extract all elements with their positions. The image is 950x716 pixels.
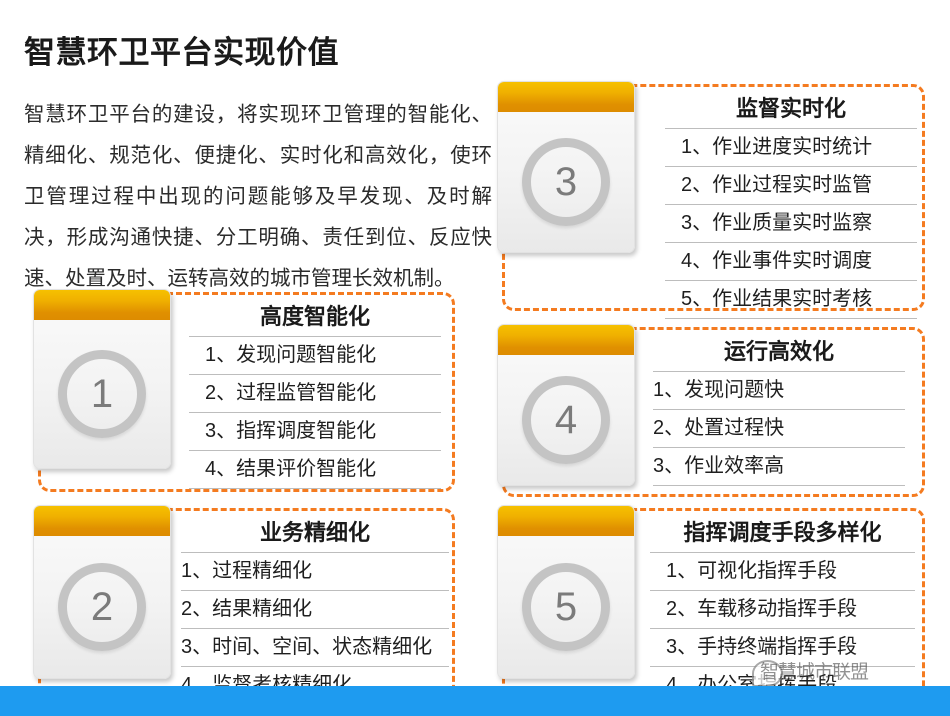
list-item: 2、处置过程快 [653,410,905,448]
ring-icon: 2 [58,563,146,651]
tile-gold-header [34,290,170,320]
tile-body: 1 [34,320,170,468]
list-item: 1、发现问题快 [653,372,905,410]
number-tile-2: 2 [33,505,171,679]
watermark-text: 智慧城市联盟 [760,657,868,684]
number-tile-1: 1 [33,289,171,469]
list-item: 4、作业事件实时调度 [665,243,917,281]
tile-gold-header [34,506,170,536]
list-item: 3、指挥调度智能化 [189,413,441,451]
card-content: 业务精细化 1、过程精细化 2、结果精细化 3、时间、空间、状态精细化 4、监督… [181,513,449,705]
card-inner: 2 业务精细化 1、过程精细化 2、结果精细化 3、时间、空间、状态精细化 4、… [41,511,452,695]
number-tile-5: 5 [497,505,635,679]
value-card-1[interactable]: 1 高度智能化 1、发现问题智能化 2、过程监管智能化 3、指挥调度智能化 4、… [38,292,455,492]
number-tile-3: 3 [497,81,635,253]
card-number: 5 [555,587,577,627]
tile-body: 2 [34,536,170,678]
card-inner: 1 高度智能化 1、发现问题智能化 2、过程监管智能化 3、指挥调度智能化 4、… [41,295,452,489]
slide-page: 智慧环卫平台实现价值 智慧环卫平台的建设，将实现环卫管理的智能化、精细化、规范化… [0,0,950,716]
tile-body: 5 [498,536,634,678]
list-item: 2、作业过程实时监管 [665,167,917,205]
ring-icon: 1 [58,350,146,438]
list-item: 2、过程监管智能化 [189,375,441,413]
ring-icon: 4 [522,376,610,464]
list-item: 3、作业效率高 [653,448,905,486]
card-number: 1 [91,374,113,414]
tile-gold-header [498,82,634,112]
card-number: 3 [555,162,577,202]
card-heading: 高度智能化 [189,297,441,337]
list-item: 2、车载移动指挥手段 [650,591,915,629]
list-item: 1、发现问题智能化 [189,337,441,375]
list-item: 3、时间、空间、状态精细化 [181,629,449,667]
value-card-2[interactable]: 2 业务精细化 1、过程精细化 2、结果精细化 3、时间、空间、状态精细化 4、… [38,508,455,698]
value-card-3[interactable]: 3 监督实时化 1、作业进度实时统计 2、作业过程实时监管 3、作业质量实时监察… [502,84,925,311]
ring-icon: 5 [522,563,610,651]
card-list: 1、发现问题快 2、处置过程快 3、作业效率高 [653,372,905,486]
card-heading: 指挥调度手段多样化 [650,513,915,553]
list-item: 3、作业质量实时监察 [665,205,917,243]
intro-paragraph: 智慧环卫平台的建设，将实现环卫管理的智能化、精细化、规范化、便捷化、实时化和高效… [24,94,492,299]
card-content: 运行高效化 1、发现问题快 2、处置过程快 3、作业效率高 [653,332,905,486]
tile-gold-header [498,325,634,355]
list-item: 1、过程精细化 [181,553,449,591]
list-item: 2、结果精细化 [181,591,449,629]
tile-gold-header [498,506,634,536]
card-number: 4 [555,400,577,440]
card-inner: 4 运行高效化 1、发现问题快 2、处置过程快 3、作业效率高 [505,330,922,494]
card-list: 1、发现问题智能化 2、过程监管智能化 3、指挥调度智能化 4、结果评价智能化 [189,337,441,489]
card-inner: 3 监督实时化 1、作业进度实时统计 2、作业过程实时监管 3、作业质量实时监察… [505,87,922,308]
card-heading: 运行高效化 [653,332,905,372]
tile-body: 3 [498,112,634,252]
ring-icon: 3 [522,138,610,226]
card-content: 高度智能化 1、发现问题智能化 2、过程监管智能化 3、指挥调度智能化 4、结果… [189,297,441,489]
bottom-blue-bar [0,686,950,716]
page-title: 智慧环卫平台实现价值 [24,35,339,71]
list-item: 4、结果评价智能化 [189,451,441,489]
number-tile-4: 4 [497,324,635,486]
card-heading: 监督实时化 [665,89,917,129]
list-item: 1、可视化指挥手段 [650,553,915,591]
card-list: 1、作业进度实时统计 2、作业过程实时监管 3、作业质量实时监察 4、作业事件实… [665,129,917,319]
list-item: 1、作业进度实时统计 [665,129,917,167]
card-content: 监督实时化 1、作业进度实时统计 2、作业过程实时监管 3、作业质量实时监察 4… [665,89,917,319]
list-item: 5、作业结果实时考核 [665,281,917,319]
tile-body: 4 [498,355,634,485]
card-heading: 业务精细化 [181,513,449,553]
card-number: 2 [91,587,113,627]
card-list: 1、过程精细化 2、结果精细化 3、时间、空间、状态精细化 4、监督考核精细化 [181,553,449,705]
value-card-4[interactable]: 4 运行高效化 1、发现问题快 2、处置过程快 3、作业效率高 [502,327,925,497]
